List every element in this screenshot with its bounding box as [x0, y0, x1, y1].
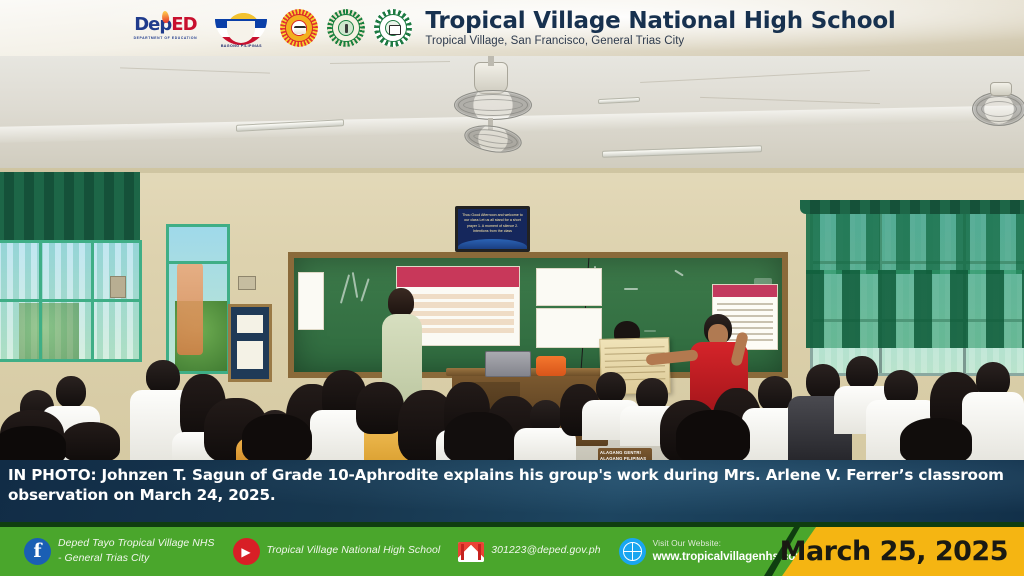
facebook-label: Deped Tayo Tropical Village NHS - Genera…: [58, 537, 215, 565]
ceiling-fan: [972, 82, 1024, 138]
deped-logo: DepED DEPARTMENT OF EDUCATION: [128, 11, 202, 45]
bagong-pilipinas-logo: BAGONG PILIPINAS: [211, 9, 271, 47]
student-head: [356, 382, 404, 434]
ceiling-fan: [448, 62, 534, 162]
student-crowd: [0, 326, 1024, 460]
social-media-post: DepED DEPARTMENT OF EDUCATION BAGONG PIL…: [0, 0, 1024, 576]
gmail-icon[interactable]: [458, 542, 484, 562]
youtube-icon[interactable]: ▶: [233, 538, 260, 565]
student-head: [900, 418, 972, 460]
facebook-contact[interactable]: f Deped Tayo Tropical Village NHS - Gene…: [24, 537, 215, 565]
header-logo-row: DepED DEPARTMENT OF EDUCATION BAGONG PIL…: [128, 9, 895, 47]
wall-mounted-tv: Thou Good Afternoon and welcome to our c…: [455, 206, 530, 252]
post-header: DepED DEPARTMENT OF EDUCATION BAGONG PIL…: [0, 0, 1024, 56]
school-address: Tropical Village, San Francisco, General…: [425, 35, 895, 47]
tv-slide-text: Thou Good Afternoon and welcome to our c…: [461, 213, 524, 235]
ceiling-light: [598, 97, 640, 104]
curtain-valance: [800, 200, 1024, 214]
student-head: [758, 376, 792, 412]
student-head: [146, 360, 180, 394]
deped-word-ed: ED: [171, 14, 196, 35]
globe-icon[interactable]: [619, 538, 646, 565]
city-seal-red-logo: [280, 9, 318, 47]
youtube-contact[interactable]: ▶ Tropical Village National High School: [233, 538, 441, 565]
footer-contact-row: f Deped Tayo Tropical Village NHS - Gene…: [0, 527, 820, 576]
classroom-photo: Thou Good Afternoon and welcome to our c…: [0, 56, 1024, 460]
school-name: Tropical Village National High School: [425, 9, 895, 33]
student-head: [846, 356, 878, 390]
student-head: [56, 376, 86, 408]
student-head: [676, 410, 750, 460]
header-title-block: Tropical Village National High School Tr…: [425, 9, 895, 47]
window-mesh-curtain: [806, 206, 1024, 274]
gmail-label: 301223@deped.gov.ph: [491, 544, 600, 558]
student-head: [0, 426, 66, 460]
caption-banner: IN PHOTO: Johnzen T. Sagun of Grade 10-A…: [0, 460, 1024, 522]
youtube-label: Tropical Village National High School: [267, 544, 441, 558]
school-seal-logo: [374, 9, 412, 47]
wall-switch: [110, 276, 126, 298]
window-curtain: [0, 172, 140, 250]
facebook-icon[interactable]: f: [24, 538, 51, 565]
bagong-pilipinas-caption: BAGONG PILIPINAS: [211, 44, 271, 48]
deped-wordmark: DepED: [134, 16, 196, 34]
student-head: [444, 412, 514, 460]
post-footer: f Deped Tayo Tropical Village NHS - Gene…: [0, 522, 1024, 576]
division-seal-green-logo: [327, 9, 365, 47]
student-head: [62, 422, 120, 460]
board-diagram-poster: [536, 268, 602, 306]
wall-outlet: [238, 276, 256, 290]
caption-text: IN PHOTO: Johnzen T. Sagun of Grade 10-A…: [0, 460, 1024, 506]
philippine-flag-bowl-icon: [215, 19, 267, 45]
ceiling-light: [602, 145, 762, 158]
gmail-contact[interactable]: 301223@deped.gov.ph: [458, 542, 600, 562]
board-paper: [298, 272, 324, 330]
post-date: March 25, 2025: [780, 527, 1008, 576]
student-head: [242, 414, 312, 460]
deped-subtitle: DEPARTMENT OF EDUCATION: [134, 36, 198, 40]
